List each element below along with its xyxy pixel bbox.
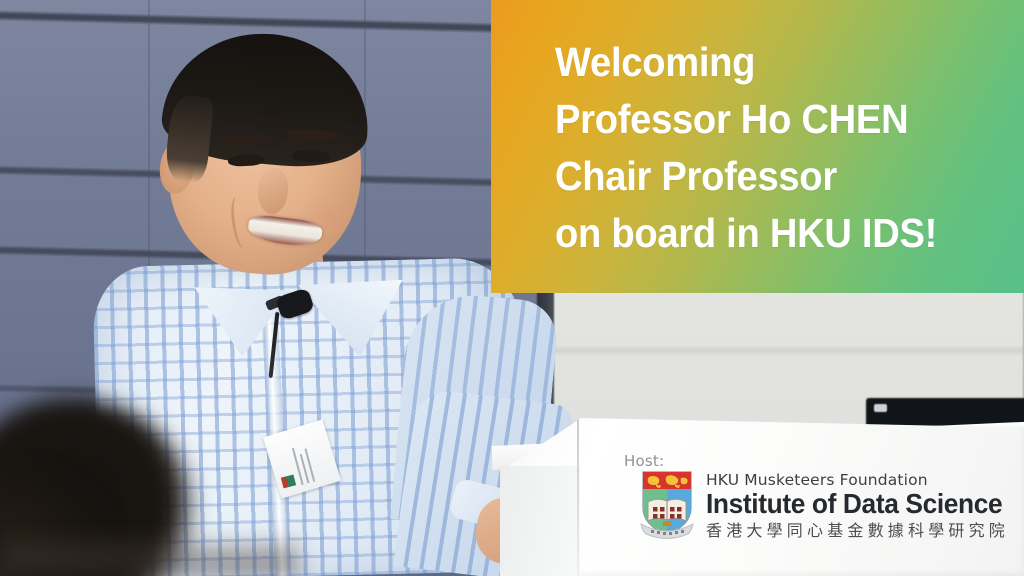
title-banner-text: Welcoming Professor Ho CHEN Chair Profes… <box>555 34 974 262</box>
ribbed-wall-shadow <box>548 348 1024 353</box>
title-line-4: on board in HKU IDS! <box>555 205 974 262</box>
foreground-blur <box>0 540 300 576</box>
lectern-fold <box>577 420 579 576</box>
title-line-3: Chair Professor <box>555 148 974 205</box>
logo-wordmark: HKU Musketeers Foundation Institute of D… <box>706 468 1021 539</box>
monitor-label <box>874 404 887 412</box>
logo-line-foundation: HKU Musketeers Foundation <box>706 472 1021 488</box>
eye-right <box>292 149 330 162</box>
logo-line-chinese: 香港大學同心基金數據科學研究院 <box>706 522 1021 540</box>
logo-line-institute: Institute of Data Science <box>706 489 1002 519</box>
hku-crest-icon <box>637 468 697 540</box>
lectern-bevel <box>500 466 580 576</box>
title-line-1: Welcoming <box>555 34 974 91</box>
title-banner: Welcoming Professor Ho CHEN Chair Profes… <box>491 0 1024 293</box>
promo-banner-image: Host: <box>0 0 1024 576</box>
title-line-2: Professor Ho CHEN <box>555 91 974 148</box>
eyebrow-right <box>288 129 336 140</box>
hku-ids-logo-lockup: HKU Musketeers Foundation Institute of D… <box>637 468 1021 540</box>
